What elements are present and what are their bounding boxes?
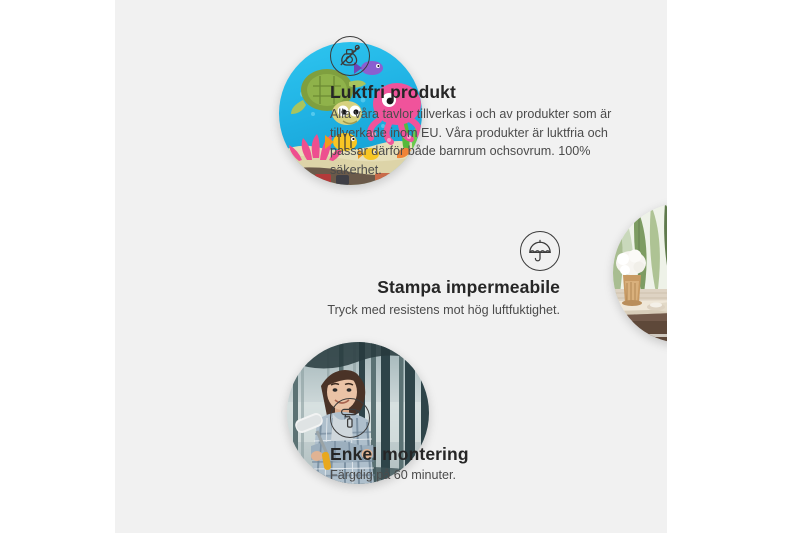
page-root: Luktfri produkt Alla våra tavlor tillver…	[0, 0, 800, 533]
feature-title: Stampa impermeabile	[205, 277, 560, 297]
feature-description: Tryck med resistens mot hög luftfuktighe…	[205, 301, 560, 320]
umbrella-icon	[520, 231, 560, 271]
paint-roller-icon	[330, 398, 370, 438]
no-perfume-spray-icon	[330, 36, 370, 76]
feature-description: Alla våra tavlor tillverkas i och av pro…	[330, 105, 630, 179]
feature-odourless: Luktfri produkt Alla våra tavlor tillver…	[330, 36, 630, 179]
feature-mounting: Enkel montering Färgdig på 60 minuter.	[330, 398, 620, 485]
feature-title: Enkel montering	[330, 444, 620, 464]
feature-waterproof: Stampa impermeabile Tryck med resistens …	[205, 231, 560, 320]
photo-bathroom-interior	[613, 203, 667, 343]
feature-description: Färgdig på 60 minuter.	[330, 466, 620, 485]
feature-title: Luktfri produkt	[330, 82, 630, 102]
content-canvas: Luktfri produkt Alla våra tavlor tillver…	[115, 0, 667, 533]
